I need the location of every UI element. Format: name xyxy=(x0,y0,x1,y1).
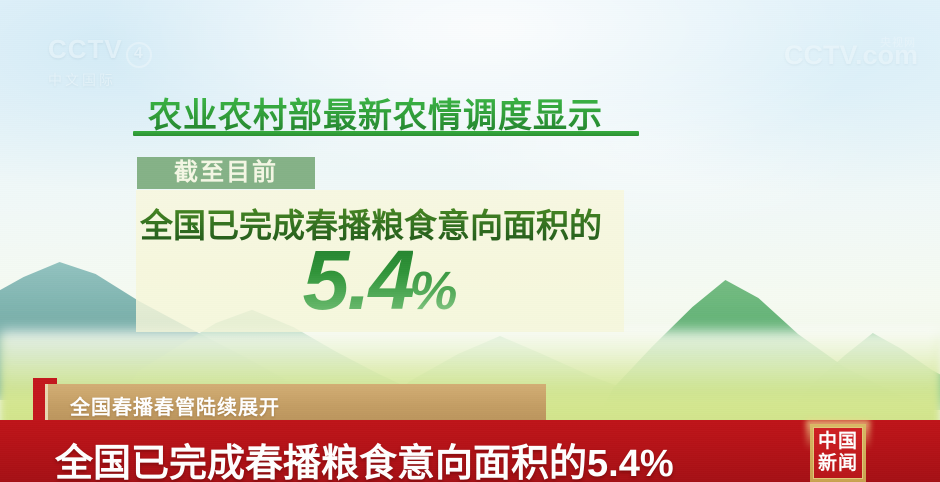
stat-value-group: 5.4% xyxy=(136,238,624,322)
broadcast-screenshot: CCTV4 中文国际 央视网 CCTV.com 农业农村部最新农情调度显示 截至… xyxy=(0,0,940,482)
status-badge-label: 截至目前 xyxy=(174,161,278,185)
channel-brand-text: CCTV xyxy=(48,34,123,64)
channel-logo-brand: CCTV4 xyxy=(48,36,168,68)
graphic-title: 农业农村部最新农情调度显示 xyxy=(148,88,603,137)
lower-third-subhead: 全国春播春管陆续展开 xyxy=(70,391,280,420)
stat-percent-sign: % xyxy=(409,261,457,321)
news-logo-line2: 新闻 xyxy=(818,453,858,475)
channel-number: 4 xyxy=(126,42,152,68)
news-program-logo-inner: 中国 新闻 xyxy=(813,427,863,479)
title-underline-rule xyxy=(133,131,639,136)
website-watermark: 央视网 CCTV.com xyxy=(784,40,918,71)
lower-third-headline: 全国已完成春播粮食意向面积的5.4% xyxy=(55,432,674,482)
stat-number: 5.4 xyxy=(303,233,414,327)
channel-logo: CCTV4 中文国际 xyxy=(48,36,168,82)
lower-third-headline-bar: 全国已完成春播粮食意向面积的5.4% xyxy=(0,420,940,482)
news-program-logo: 中国 新闻 xyxy=(810,424,866,482)
lower-third-subhead-bar: 全国春播春管陆续展开 xyxy=(45,384,546,422)
news-logo-line1: 中国 xyxy=(818,431,858,453)
status-badge: 截至目前 xyxy=(137,157,315,189)
meadow-haze xyxy=(0,330,940,390)
channel-logo-subtitle: 中文国际 xyxy=(48,70,168,90)
website-watermark-cn: 央视网 xyxy=(880,34,916,50)
